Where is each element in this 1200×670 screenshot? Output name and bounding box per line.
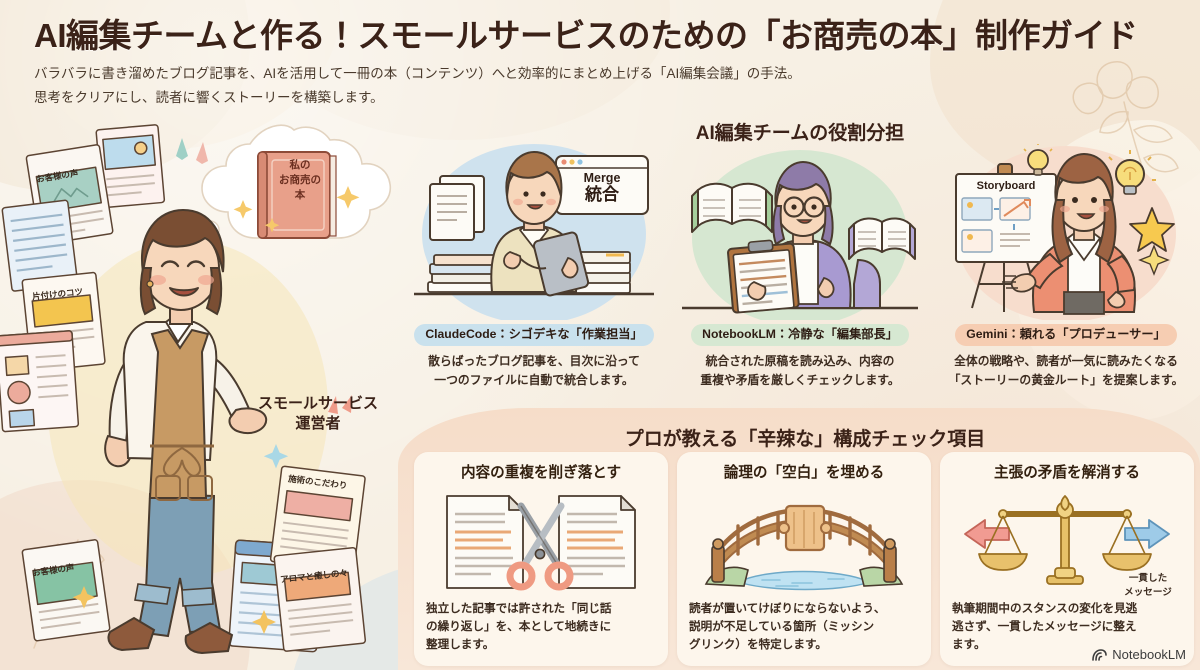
merge-documents-icon bbox=[406, 142, 662, 320]
check-title-logic-gap: 論理の「空白」を埋める bbox=[724, 461, 885, 482]
role-desc-claudecode: 散らばったブログ記事を、目次に沿って 一つのファイルに自動で統合します。 bbox=[428, 352, 640, 389]
role-art-claudecode: Merge 統合 bbox=[406, 142, 662, 320]
role-badge-claudecode: ClaudeCode：シゴデキな「作業担当」 bbox=[414, 324, 653, 346]
article-card bbox=[0, 331, 79, 432]
check-art-logic-gap bbox=[692, 488, 916, 594]
check-title-contradiction: 主張の矛盾を解消する bbox=[994, 461, 1140, 482]
storyboard-presenter-icon bbox=[938, 142, 1194, 320]
bridge-icon bbox=[692, 488, 916, 594]
consistency-annotation: 一貫した メッセージ bbox=[1115, 572, 1181, 600]
check-art-contradiction: 一貫した メッセージ bbox=[955, 488, 1179, 594]
role-desc-gemini: 全体の戦略や、読者が一気に読みたくなる 「ストーリーの黄金ルート」を提案します。 bbox=[949, 352, 1184, 389]
role-art-gemini: Storyboard bbox=[938, 142, 1194, 320]
check-desc-duplication: 独立した記事では許された「同じ話 の繰り返し」を、本として地続きに 整理します。 bbox=[426, 600, 612, 654]
watermark: NotebookLM bbox=[1091, 647, 1186, 662]
role-desc-notebooklm: 統合された原稿を読み込み、内容の 重複や矛盾を厳しくチェックします。 bbox=[700, 352, 899, 389]
missing-plank-filled bbox=[779, 506, 831, 550]
role-art-notebooklm bbox=[672, 142, 928, 320]
check-card-duplication[interactable]: 内容の重複を削ぎ落とす bbox=[414, 452, 668, 666]
checks-section-title: プロが教える「辛辣な」構成チェック項目 bbox=[420, 424, 1190, 451]
hero-illustration: お客様の声 片付けのコツ 施術のこだわり お客様の声 アロマと癒しの々 私の お… bbox=[0, 108, 410, 670]
check-title-duplication: 内容の重複を削ぎ落とす bbox=[461, 461, 621, 482]
merge-label-ja: 統合 bbox=[566, 186, 638, 205]
storyboard-label: Storyboard bbox=[962, 180, 1050, 192]
role-badge-notebooklm: NotebookLM：冷静な「編集部長」 bbox=[691, 324, 909, 346]
roles-section-title: AI編集チームの役割分担 bbox=[410, 118, 1190, 145]
check-card-logic-gap[interactable]: 論理の「空白」を埋める bbox=[677, 452, 931, 666]
scissors-documents-icon bbox=[429, 488, 653, 594]
dream-book-title: 私の お商売の 本 bbox=[264, 158, 336, 204]
editor-clipboard-icon bbox=[672, 142, 928, 320]
left-arrow-icon bbox=[965, 520, 1009, 548]
notebooklm-logo-icon bbox=[1091, 648, 1107, 662]
check-art-duplication bbox=[429, 488, 653, 594]
role-card-gemini[interactable]: Storyboard Gemini：頼れる「プロデューサー」 全体の戦略や、読者… bbox=[938, 142, 1194, 390]
article-card bbox=[274, 547, 366, 651]
role-badge-gemini: Gemini：頼れる「プロデューサー」 bbox=[955, 324, 1177, 346]
persona-label: スモールサービス 運営者 bbox=[243, 394, 393, 435]
article-card bbox=[22, 539, 110, 641]
roles-list: Merge 統合 ClaudeCode：シゴデキな「作業担当」 散らばったブログ… bbox=[406, 142, 1196, 390]
shop-owner-scene-icon bbox=[0, 108, 410, 670]
check-desc-logic-gap: 読者が置いてけぼりにならないよう、 説明が不足している箇所（ミッシン グリンク）… bbox=[689, 600, 886, 654]
subtitle-line-2: 思考をクリアにし、読者に響くストーリーを構築します。 bbox=[34, 87, 1166, 109]
checks-list: 内容の重複を削ぎ落とす bbox=[414, 452, 1194, 666]
header: AI編集チームと作る！スモールサービスのための「お商売の本」制作ガイド バラバラ… bbox=[0, 18, 1200, 109]
role-card-claudecode[interactable]: Merge 統合 ClaudeCode：シゴデキな「作業担当」 散らばったブログ… bbox=[406, 142, 662, 390]
watermark-label: NotebookLM bbox=[1112, 647, 1186, 662]
check-card-contradiction[interactable]: 主張の矛盾を解消する bbox=[940, 452, 1194, 666]
role-card-notebooklm[interactable]: NotebookLM：冷静な「編集部長」 統合された原稿を読み込み、内容の 重複… bbox=[672, 142, 928, 390]
page-title: AI編集チームと作る！スモールサービスのための「お商売の本」制作ガイド bbox=[34, 18, 1166, 55]
infographic-poster: AI編集チームと作る！スモールサービスのための「お商売の本」制作ガイド バラバラ… bbox=[0, 0, 1200, 670]
merge-label-en: Merge bbox=[566, 172, 638, 186]
subtitle-line-1: バラバラに書き溜めたブログ記事を、AIを活用して一冊の本（コンテンツ）へと効率的… bbox=[34, 63, 1166, 85]
